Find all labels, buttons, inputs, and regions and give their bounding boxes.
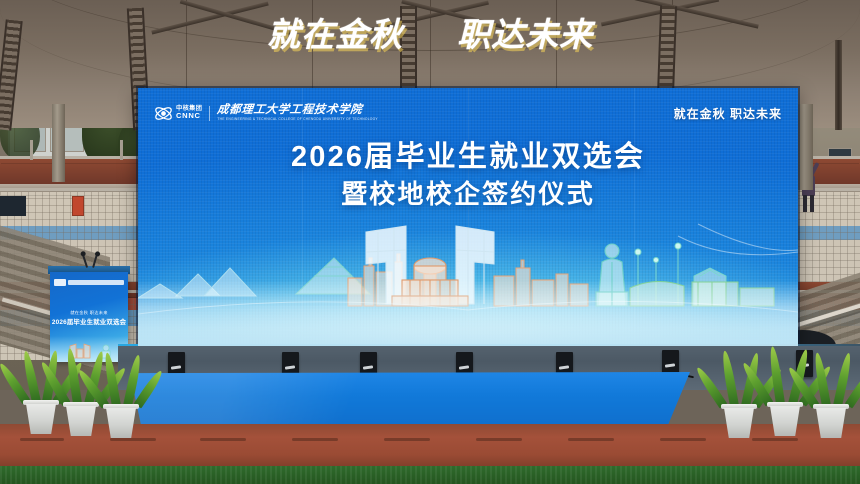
concrete-column [52,104,65,182]
led-header: 中核集团 CNNC 成都理工大学工程技术学院 THE ENGINEERING &… [154,100,782,126]
cnnc-name-en: CNNC [176,112,202,120]
podium-illustration [50,336,128,362]
speaking-podium: 就在金秋 职达未来 2026届毕业生就业双选会 [50,272,128,362]
logo-group: 中核集团 CNNC 成都理工大学工程技术学院 THE ENGINEERING &… [154,104,378,123]
apron-slogan-right: 职达未来 [457,16,593,53]
concrete-column [798,104,813,190]
university-name-cn: 成都理工大学工程技术学院 [217,105,379,117]
track-seam [110,438,156,441]
event-title-line2: 暨校地校企签约仪式 [138,178,798,212]
podium-event-name: 2026届毕业生就业双选会 [50,317,128,326]
water-reflection [138,306,798,346]
event-title-line1: 2026届毕业生就业双选会 [138,140,798,175]
person-leg [803,195,807,212]
podium-slogan: 就在金秋 职达未来 [50,310,128,316]
dark-opening [0,196,26,216]
logo-divider [209,106,210,121]
fire-equipment-box [72,196,84,216]
person-leg [810,195,814,212]
screenshot-root: 中核集团 CNNC 成都理工大学工程技术学院 THE ENGINEERING &… [0,0,860,484]
university-logo: 成都理工大学工程技术学院 THE ENGINEERING & TECHNICAL… [217,105,378,121]
track-seam [568,438,614,441]
cnnc-atom-icon [154,104,173,123]
cnnc-wordmark: 中核集团 CNNC [176,106,202,120]
led-title-block: 2026届毕业生就业双选会 暨校地校企签约仪式 [138,140,798,212]
university-name-en: THE ENGINEERING & TECHNICAL COLLEGE OF C… [217,118,378,121]
track-seam [384,438,430,441]
track-seam [20,438,64,441]
track-seam [476,438,522,441]
apron-slogan: 就在金秋 职达未来 [0,8,860,56]
apron-slogan-left: 就在金秋 [267,16,403,53]
track-seam [200,438,246,441]
track-seam [752,438,798,441]
stage-apron-banner [130,372,690,426]
led-display-screen: 中核集团 CNNC 成都理工大学工程技术学院 THE ENGINEERING &… [138,88,798,346]
podium-university-wordmark [68,280,124,285]
track-seam [292,438,338,441]
turf-field [0,466,860,484]
track-seam [660,438,706,441]
podium-cnnc-icon [54,279,66,286]
rail-post [120,140,123,160]
led-header-slogan: 就在金秋 职达未来 [674,105,782,122]
rail-post [30,140,33,160]
podium-logo-bar [54,278,124,287]
cnnc-logo: 中核集团 CNNC [154,104,202,123]
